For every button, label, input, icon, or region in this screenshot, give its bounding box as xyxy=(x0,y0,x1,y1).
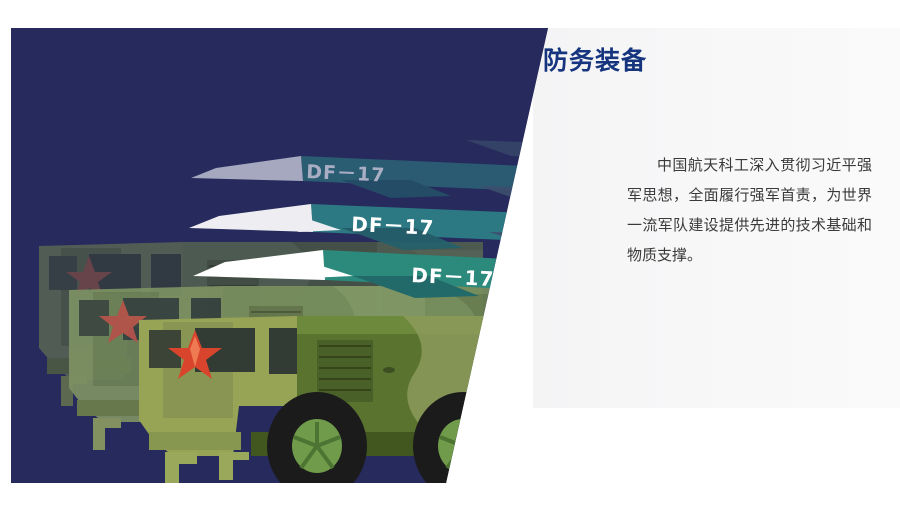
missile-label-middle: DF－17 xyxy=(351,212,435,240)
defense-equipment-illustration: DF－17 DF－17 DF－17 xyxy=(11,28,611,483)
illustration-svg: DF－17 DF－17 DF－17 xyxy=(11,28,611,483)
missile-label-rear: DF－17 xyxy=(306,161,386,187)
body-paragraph: 中国航天科工深入贯彻习近平强军思想，全面履行强军首责，为世界一流军队建设提供先进… xyxy=(627,150,872,270)
slide-canvas: DF－17 DF－17 DF－17 防务装备 中国航天科工深入贯彻习近平强军思想… xyxy=(0,0,900,510)
page-title: 防务装备 xyxy=(543,41,647,77)
missile-label-front: DF－17 xyxy=(411,263,495,291)
